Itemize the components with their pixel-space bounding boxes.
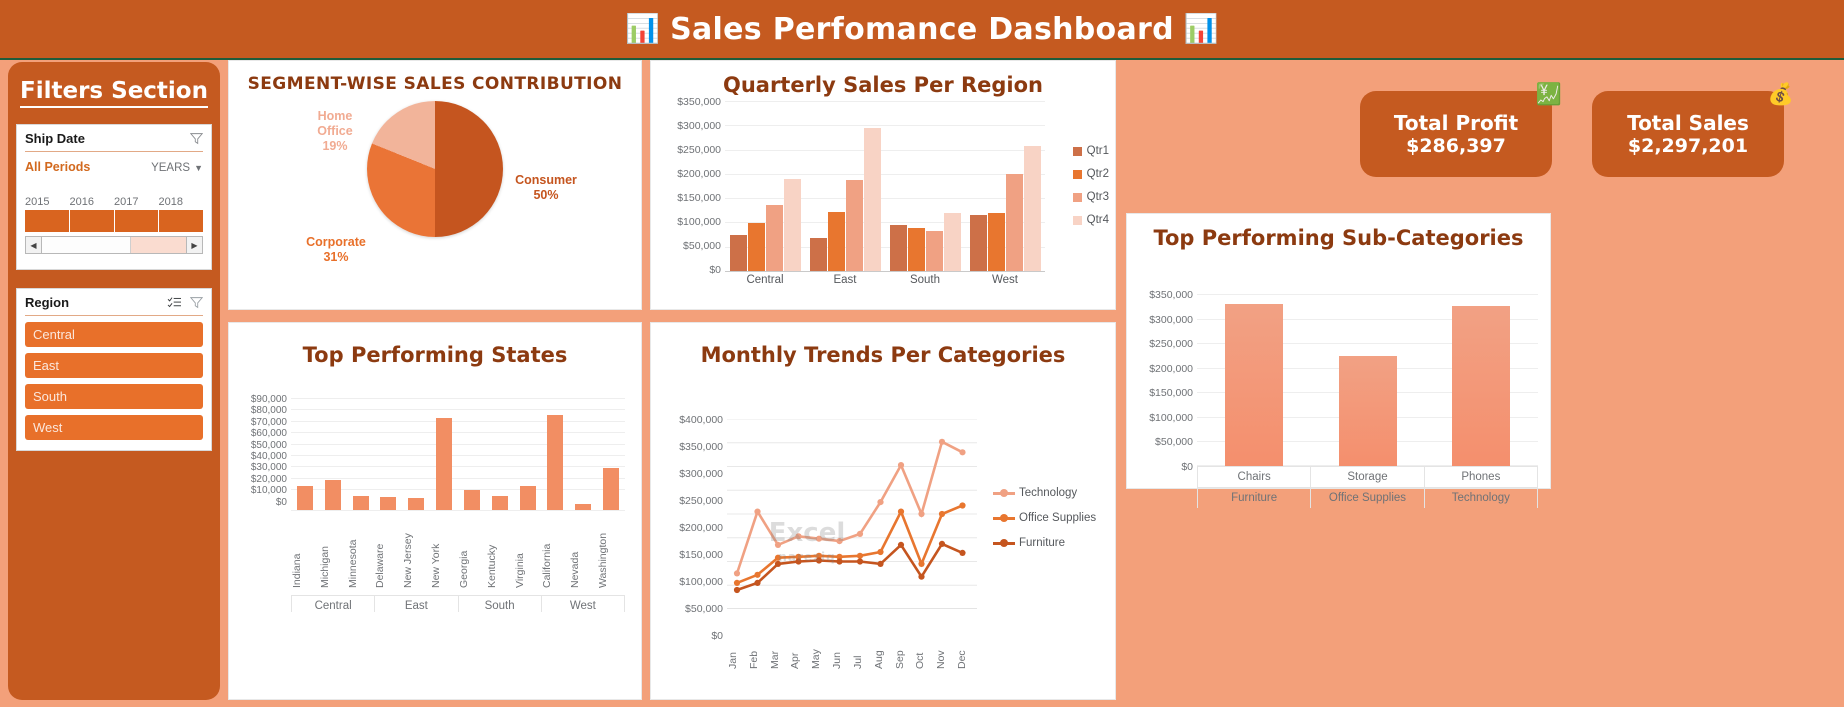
y-tick: $0	[231, 498, 287, 509]
y-tick: $400,000	[657, 415, 723, 442]
x-label-storage: Storage	[1311, 466, 1424, 487]
bar-central-qtr1[interactable]	[730, 235, 747, 271]
ship-date-header: Ship Date	[25, 131, 203, 146]
x-label-sep: Sep	[894, 613, 915, 669]
y-tick: $250,000	[659, 145, 721, 169]
region-label-west: West	[542, 595, 625, 612]
segment-pie-card: SEGMENT-WISE SALES CONTRIBUTION Home Off…	[228, 60, 642, 310]
bar-virginia[interactable]	[520, 486, 536, 510]
bar-group-south	[885, 101, 965, 271]
funnel-icon[interactable]	[190, 296, 203, 309]
y-tick: $300,000	[1129, 315, 1193, 340]
bar-south-qtr4[interactable]	[944, 213, 961, 271]
x-label-kentucky: Kentucky	[486, 512, 514, 588]
bar-kentucky[interactable]	[492, 496, 508, 510]
bar-chart-money-icon-left: 📊	[625, 15, 660, 43]
bar-group-central	[725, 101, 805, 271]
timeline-year: 2018	[159, 196, 204, 208]
x-label-new-jersey: New Jersey	[402, 512, 430, 588]
legend-item-qtr3[interactable]: Qtr3	[1073, 191, 1109, 203]
bar-group-state	[374, 398, 402, 510]
x-label-california: California	[541, 512, 569, 588]
bar-delaware[interactable]	[380, 497, 396, 510]
states-bars	[291, 398, 625, 510]
quarterly-x-labels: Central East South West	[725, 274, 1045, 286]
bar-new-york[interactable]	[436, 418, 452, 510]
monthly-y-axis: $400,000 $350,000 $300,000 $250,000 $200…	[657, 415, 723, 658]
bar-east-qtr2[interactable]	[828, 212, 845, 271]
legend-line-icon	[993, 517, 1015, 520]
legend-item-qtr4[interactable]: Qtr4	[1073, 214, 1109, 226]
x-label-nevada: Nevada	[569, 512, 597, 588]
y-tick: $0	[657, 631, 723, 658]
legend-item-technology[interactable]: Technology	[993, 487, 1096, 499]
category-row: Furniture Office Supplies Technology	[1197, 487, 1538, 508]
y-tick: $150,000	[1129, 388, 1193, 413]
y-tick: $150,000	[657, 550, 723, 577]
x-label-washington: Washington	[597, 512, 625, 588]
bar-group-state	[458, 398, 486, 510]
dashboard-header: 📊 Sales Perfomance Dashboard 📊	[0, 0, 1844, 60]
filters-panel: Filters Section Ship Date All Periods YE…	[8, 62, 220, 700]
quarterly-y-axis: $350,000 $300,000 $250,000 $200,000 $150…	[659, 97, 721, 289]
monthly-trends-title: Monthly Trends Per Categories	[651, 323, 1115, 367]
bar-group-phones	[1424, 294, 1538, 466]
y-tick: $50,000	[1129, 437, 1193, 462]
bar-south-qtr3[interactable]	[926, 231, 943, 271]
y-tick: $0	[1129, 462, 1193, 487]
x-label-central: Central	[725, 274, 805, 286]
bar-east-qtr1[interactable]	[810, 238, 827, 272]
region-slicer-actions[interactable]	[167, 296, 203, 309]
money-growth-icon: 💹	[1536, 83, 1562, 107]
multi-select-icon[interactable]	[167, 296, 182, 309]
bar-phones[interactable]	[1452, 306, 1510, 466]
legend-line-icon	[993, 492, 1015, 495]
y-tick: $50,000	[657, 604, 723, 631]
timeline-granularity[interactable]: YEARS▼	[151, 158, 203, 176]
bar-west-qtr2[interactable]	[988, 213, 1005, 271]
legend-item-qtr1[interactable]: Qtr1	[1073, 145, 1109, 157]
y-tick: $200,000	[659, 169, 721, 193]
bar-group-state	[347, 398, 375, 510]
region-label-east: East	[375, 595, 458, 612]
bar-central-qtr2[interactable]	[748, 223, 765, 271]
y-tick: $300,000	[659, 121, 721, 145]
line-furniture[interactable]	[737, 544, 963, 590]
region-header: Region	[25, 295, 203, 310]
x-label-georgia: Georgia	[458, 512, 486, 588]
bar-california[interactable]	[547, 415, 563, 510]
subcategory-row: Chairs Storage Phones	[1197, 466, 1538, 487]
ship-date-slicer[interactable]: Ship Date All Periods YEARS▼ 2015 2016 2…	[16, 124, 212, 270]
kpi-total-profit-label: Total Profit	[1394, 111, 1518, 135]
timeline-scroll-track[interactable]	[42, 237, 186, 253]
bar-west-qtr4[interactable]	[1024, 146, 1041, 271]
bar-group-state	[541, 398, 569, 510]
money-bag-icon: 💰	[1768, 83, 1794, 107]
bar-central-qtr3[interactable]	[766, 205, 783, 271]
chevron-down-icon: ▼	[194, 163, 203, 173]
timeline-segment[interactable]	[115, 210, 160, 232]
kpi-total-sales[interactable]: 💰 Total Sales $2,297,201	[1592, 91, 1784, 177]
timeline-year: 2016	[70, 196, 115, 208]
timeline-segment[interactable]	[25, 210, 70, 232]
x-label-oct: Oct	[914, 613, 935, 669]
bar-south-qtr1[interactable]	[890, 225, 907, 271]
quarterly-legend: Qtr1 Qtr2 Qtr3 Qtr4	[1073, 145, 1109, 237]
region-label-central: Central	[291, 595, 375, 612]
timeline-segment[interactable]	[70, 210, 115, 232]
monthly-trends-svg	[727, 419, 977, 609]
timeline-year-labels: 2015 2016 2017 2018	[25, 196, 203, 208]
bar-west-qtr3[interactable]	[1006, 174, 1023, 271]
top-subcategories-title: Top Performing Sub-Categories	[1127, 214, 1550, 250]
timeline-scroll-thumb[interactable]	[42, 237, 131, 253]
bar-group-state	[514, 398, 542, 510]
pie-label-consumer: Consumer 50%	[509, 173, 583, 203]
segment-pie-title: SEGMENT-WISE SALES CONTRIBUTION	[229, 61, 641, 95]
pie-label-home-office: Home Office 19%	[307, 109, 363, 154]
subcategories-x-axis: Chairs Storage Phones Furniture Office S…	[1197, 466, 1538, 508]
y-tick: $150,000	[659, 193, 721, 217]
x-label-dec: Dec	[956, 613, 977, 669]
bar-chart-money-icon-right: 📊	[1184, 15, 1219, 43]
line-technology[interactable]	[737, 442, 963, 574]
y-tick: $350,000	[659, 97, 721, 121]
states-bars-area	[291, 398, 625, 510]
x-label-virginia: Virginia	[514, 512, 542, 588]
quarterly-sales-card: Quarterly Sales Per Region $350,000 $300…	[650, 60, 1116, 310]
bar-group-state	[569, 398, 597, 510]
x-label-south: South	[885, 274, 965, 286]
legend-item-qtr2[interactable]: Qtr2	[1073, 168, 1109, 180]
top-subcategories-card: Top Performing Sub-Categories $350,000 $…	[1126, 213, 1551, 489]
left-arrow-icon[interactable]: ◀	[26, 237, 42, 253]
right-arrow-icon[interactable]: ▶	[186, 237, 202, 253]
top-states-plot: $90,000 $80,000 $70,000 $60,000 $50,000 …	[229, 367, 641, 697]
y-tick: $350,000	[657, 442, 723, 469]
x-label-office-supplies: Office Supplies	[1311, 487, 1424, 508]
x-label-jun: Jun	[831, 613, 852, 669]
region-divider	[25, 315, 203, 316]
bar-nevada[interactable]	[575, 504, 591, 510]
y-tick: $200,000	[1129, 364, 1193, 389]
y-tick: $60,000	[231, 429, 287, 440]
x-label-minnesota: Minnesota	[347, 512, 375, 588]
region-label: Region	[25, 295, 69, 310]
bar-minnesota[interactable]	[353, 496, 369, 510]
x-label-nov: Nov	[935, 613, 956, 669]
top-states-title: Top Performing States	[229, 323, 641, 367]
x-label-chairs: Chairs	[1197, 466, 1311, 487]
y-tick: $0	[659, 265, 721, 289]
quarterly-x-axis-line	[725, 271, 1045, 272]
timeline-year: 2015	[25, 196, 70, 208]
monthly-trends-plot: $400,000 $350,000 $300,000 $250,000 $200…	[651, 367, 1115, 697]
bar-group-east	[805, 101, 885, 271]
states-y-axis: $90,000 $80,000 $70,000 $60,000 $50,000 …	[231, 395, 287, 509]
bar-group-state	[402, 398, 430, 510]
bar-indiana[interactable]	[297, 486, 313, 510]
quarterly-sales-plot: $350,000 $300,000 $250,000 $200,000 $150…	[651, 97, 1115, 293]
timeline-period-value: All Periods	[25, 160, 90, 174]
legend-item-furniture[interactable]: Furniture	[993, 537, 1096, 549]
kpi-total-sales-label: Total Sales	[1627, 111, 1749, 135]
subcategories-bars	[1197, 294, 1538, 466]
y-tick: $100,000	[659, 217, 721, 241]
y-tick: $100,000	[657, 577, 723, 604]
bar-west-qtr1[interactable]	[970, 215, 987, 271]
x-label-furniture: Furniture	[1197, 487, 1311, 508]
y-tick: $10,000	[231, 486, 287, 497]
kpi-total-profit-value: $286,397	[1406, 135, 1506, 157]
timeline-year: 2017	[114, 196, 159, 208]
quarterly-sales-title: Quarterly Sales Per Region	[651, 61, 1115, 97]
y-tick: $200,000	[657, 523, 723, 550]
monthly-lines-area	[727, 419, 977, 609]
page-title: Sales Perfomance Dashboard	[670, 12, 1174, 47]
x-label-indiana: Indiana	[291, 512, 319, 588]
kpi-total-sales-value: $2,297,201	[1628, 135, 1748, 157]
bar-group-state	[291, 398, 319, 510]
bar-group-state	[486, 398, 514, 510]
bar-new-jersey[interactable]	[408, 498, 424, 510]
timeline-bar[interactable]	[25, 210, 203, 232]
dashboard-root: 📊 Sales Perfomance Dashboard 📊 Filters S…	[0, 0, 1844, 707]
x-label-may: May	[810, 613, 831, 669]
bar-east-qtr3[interactable]	[846, 180, 863, 271]
legend-swatch-icon	[1073, 170, 1082, 179]
ship-date-divider	[25, 151, 203, 152]
pie-label-corporate: Corporate 31%	[299, 235, 373, 265]
states-x-labels: Indiana Michigan Minnesota Delaware New …	[291, 512, 625, 588]
filters-title-wrap: Filters Section	[8, 62, 220, 124]
kpi-total-profit[interactable]: 💹 Total Profit $286,397	[1360, 91, 1552, 177]
region-item-central[interactable]: Central	[25, 322, 203, 347]
bar-storage[interactable]	[1339, 356, 1397, 466]
bar-michigan[interactable]	[325, 480, 341, 510]
bar-georgia[interactable]	[464, 490, 480, 510]
top-subcategories-plot: $350,000 $300,000 $250,000 $200,000 $150…	[1127, 250, 1550, 484]
legend-swatch-icon	[1073, 193, 1082, 202]
bar-group-state	[319, 398, 347, 510]
bar-chairs[interactable]	[1225, 304, 1283, 466]
pie-graphic[interactable]	[367, 101, 503, 237]
y-tick: $300,000	[657, 469, 723, 496]
bar-group-state	[430, 398, 458, 510]
quarterly-bars-area	[725, 101, 1045, 271]
region-slicer[interactable]: Region Central East South	[16, 288, 212, 451]
x-label-delaware: Delaware	[374, 512, 402, 588]
x-label-apr: Apr	[789, 613, 810, 669]
states-region-labels: Central East South West	[291, 595, 625, 612]
x-label-feb: Feb	[748, 613, 769, 669]
bar-group-state	[597, 398, 625, 510]
bar-group-storage	[1311, 294, 1425, 466]
x-label-mar: Mar	[769, 613, 790, 669]
y-tick: $50,000	[659, 241, 721, 265]
x-label-phones: Phones	[1425, 466, 1538, 487]
monthly-trends-card: Monthly Trends Per Categories $400,000 $…	[650, 322, 1116, 700]
y-tick: $250,000	[657, 496, 723, 523]
segment-pie-plot: Home Office 19% Corporate 31% Consumer 5…	[229, 95, 641, 271]
x-label-west: West	[965, 274, 1045, 286]
top-states-card: Top Performing States $90,000 $80,000 $7…	[228, 322, 642, 700]
subcategories-y-axis: $350,000 $300,000 $250,000 $200,000 $150…	[1129, 290, 1193, 486]
legend-item-office-supplies[interactable]: Office Supplies	[993, 512, 1096, 524]
timeline-segment[interactable]	[159, 210, 203, 232]
x-label-new-york: New York	[430, 512, 458, 588]
quarterly-bar-groups	[725, 101, 1045, 271]
ship-date-clear-filter-icon[interactable]	[190, 132, 203, 145]
bar-south-qtr2[interactable]	[908, 228, 925, 271]
timeline-period-row[interactable]: All Periods YEARS▼	[25, 158, 203, 176]
region-item-east[interactable]: East	[25, 353, 203, 378]
filters-section-title: Filters Section	[20, 78, 208, 108]
x-label-technology: Technology	[1425, 487, 1538, 508]
legend-swatch-icon	[1073, 216, 1082, 225]
monthly-x-labels: Jan Feb Mar Apr May Jun Jul Aug Sep Oct …	[727, 613, 977, 669]
y-tick: $350,000	[1129, 290, 1193, 315]
bar-central-qtr4[interactable]	[784, 179, 801, 271]
region-item-west[interactable]: West	[25, 415, 203, 440]
subcategories-bars-area	[1197, 294, 1538, 466]
legend-swatch-icon	[1073, 147, 1082, 156]
y-tick: $250,000	[1129, 339, 1193, 364]
bar-east-qtr4[interactable]	[864, 128, 881, 271]
legend-line-icon	[993, 542, 1015, 545]
y-tick: $100,000	[1129, 413, 1193, 438]
x-label-jan: Jan	[727, 613, 748, 669]
bar-washington[interactable]	[603, 468, 619, 510]
x-label-aug: Aug	[873, 613, 894, 669]
region-item-south[interactable]: South	[25, 384, 203, 409]
monthly-trends-legend: Technology Office Supplies Furniture	[993, 487, 1096, 562]
x-label-east: East	[805, 274, 885, 286]
funnel-icon	[190, 132, 203, 145]
bar-group-chairs	[1197, 294, 1311, 466]
ship-date-label: Ship Date	[25, 131, 85, 146]
bar-group-west	[965, 101, 1045, 271]
x-label-jul: Jul	[852, 613, 873, 669]
x-label-michigan: Michigan	[319, 512, 347, 588]
region-label-south: South	[459, 595, 542, 612]
timeline-scrollbar[interactable]: ◀ ▶	[25, 236, 203, 254]
